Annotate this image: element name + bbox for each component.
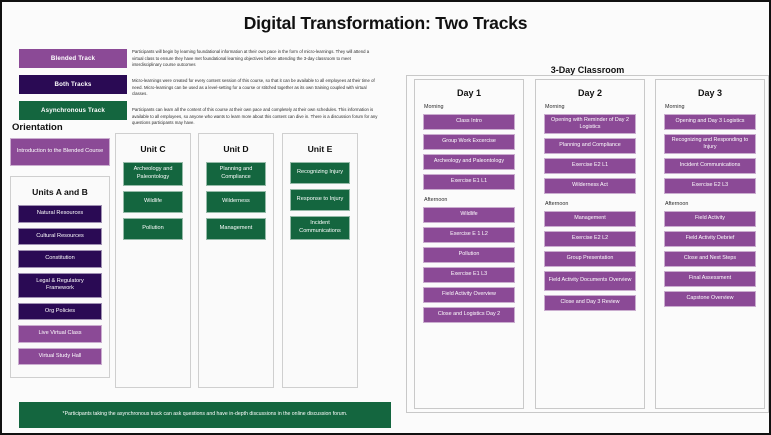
unit-c-card: Unit C Archeology and Paleontology Wildl… (115, 133, 191, 388)
unit-c-item[interactable]: Pollution (123, 218, 183, 240)
day-2-session[interactable]: Group Presentation (544, 251, 636, 267)
day-1-session[interactable]: Group Work Excercise (423, 134, 515, 150)
day-2-morning-label: Morning (545, 104, 636, 110)
day-1-session[interactable]: Exercise E1 L1 (423, 174, 515, 190)
left-track-column: Orientation Introduction to the Blended … (10, 122, 110, 378)
day-2-session[interactable]: Opening with Reminder of Day 2 Logistics (544, 114, 636, 134)
day-2-session[interactable]: Wilderness Act (544, 178, 636, 194)
unit-ab-item[interactable]: Legal & Regulatory Framework (18, 273, 102, 298)
page-title: Digital Transformation: Two Tracks (2, 2, 769, 34)
classroom-heading: 3-Day Classroom (406, 65, 769, 75)
unit-ab-item[interactable]: Virtual Study Hall (18, 348, 102, 366)
orientation-heading: Orientation (12, 122, 110, 133)
unit-d-card: Unit D Planning and Compliance Wildernes… (198, 133, 274, 388)
legend-note-both: Micro-learnings were created for every c… (132, 78, 380, 98)
day-1-session[interactable]: Exercise E1 L3 (423, 267, 515, 283)
day-1-session[interactable]: Wildlife (423, 207, 515, 223)
day-3-session[interactable]: Exercise E2 L3 (664, 178, 756, 194)
day-2-column: Day 2 Morning Opening with Reminder of D… (535, 79, 645, 409)
legend-chip-blended: Blended Track (19, 49, 127, 68)
unit-c-item[interactable]: Archeology and Paleontology (123, 162, 183, 186)
legend-chip-both: Both Tracks (19, 75, 127, 94)
unit-ab-item[interactable]: Live Virtual Class (18, 325, 102, 343)
unit-c-item[interactable]: Wildlife (123, 191, 183, 213)
day-3-session[interactable]: Close and Next Steps (664, 251, 756, 267)
unit-e-item[interactable]: Response to Injury (290, 189, 350, 211)
day-3-session[interactable]: Final Assessment (664, 271, 756, 287)
day-1-title: Day 1 (423, 88, 515, 98)
day-2-session[interactable]: Close and Day 3 Review (544, 295, 636, 311)
day-2-session[interactable]: Exercise E2 L1 (544, 158, 636, 174)
unit-ab-item[interactable]: Cultural Resources (18, 228, 102, 246)
unit-e-item[interactable]: Recognizing Injury (290, 162, 350, 184)
day-3-column: Day 3 Morning Opening and Day 3 Logistic… (655, 79, 765, 409)
footer-note: *Participants taking the asynchronous tr… (19, 402, 391, 428)
day-3-session[interactable]: Recognizing and Responding to Injury (664, 134, 756, 154)
unit-e-card: Unit E Recognizing Injury Response to In… (282, 133, 358, 388)
day-1-morning-label: Morning (424, 104, 515, 110)
day-1-session[interactable]: Class Intro (423, 114, 515, 130)
legend-chip-asynchronous: Asynchronous Track (19, 101, 127, 120)
day-1-session[interactable]: Close and Logistics Day 2 (423, 307, 515, 323)
day-2-afternoon-label: Afternoon (545, 201, 636, 207)
unit-d-title: Unit D (206, 144, 266, 154)
legend-notes: Participants will begin by learning foun… (132, 49, 380, 136)
unit-d-item[interactable]: Wilderness (206, 191, 266, 213)
unit-ab-item[interactable]: Org Policies (18, 303, 102, 321)
day-3-afternoon-label: Afternoon (665, 201, 756, 207)
legend: Blended Track Both Tracks Asynchronous T… (19, 49, 127, 127)
legend-note-asynchronous: Participants can learn all the content o… (132, 107, 380, 127)
unit-ab-item[interactable]: Constitution (18, 250, 102, 268)
day-1-column: Day 1 Morning Class Intro Group Work Exc… (414, 79, 524, 409)
day-2-session[interactable]: Field Activity Documents Overview (544, 271, 636, 291)
day-3-session[interactable]: Incident Communications (664, 158, 756, 174)
day-1-session[interactable]: Exercise E 1 L2 (423, 227, 515, 243)
unit-d-item[interactable]: Planning and Compliance (206, 162, 266, 186)
unit-c-title: Unit C (123, 144, 183, 154)
unit-e-title: Unit E (290, 144, 350, 154)
day-3-session[interactable]: Field Activity (664, 211, 756, 227)
day-3-session[interactable]: Capstone Overview (664, 291, 756, 307)
day-2-session[interactable]: Exercise E2 L2 (544, 231, 636, 247)
day-3-session[interactable]: Field Activity Debrief (664, 231, 756, 247)
unit-d-item[interactable]: Management (206, 218, 266, 240)
slide-canvas: Digital Transformation: Two Tracks Blend… (0, 0, 771, 435)
orientation-item[interactable]: Introduction to the Blended Course (10, 138, 110, 166)
day-3-session[interactable]: Opening and Day 3 Logistics (664, 114, 756, 130)
day-3-morning-label: Morning (665, 104, 756, 110)
day-1-session[interactable]: Pollution (423, 247, 515, 263)
units-ab-title: Units A and B (18, 187, 102, 197)
day-2-session[interactable]: Planning and Compliance (544, 138, 636, 154)
unit-e-item[interactable]: Incident Communications (290, 216, 350, 240)
day-3-title: Day 3 (664, 88, 756, 98)
day-1-session[interactable]: Archeology and Paleontology (423, 154, 515, 170)
day-1-afternoon-label: Afternoon (424, 197, 515, 203)
legend-note-blended: Participants will begin by learning foun… (132, 49, 380, 69)
unit-ab-item[interactable]: Natural Resources (18, 205, 102, 223)
day-2-title: Day 2 (544, 88, 636, 98)
units-ab-card: Units A and B Natural Resources Cultural… (10, 176, 110, 378)
day-1-session[interactable]: Field Activity Overview (423, 287, 515, 303)
day-2-session[interactable]: Management (544, 211, 636, 227)
